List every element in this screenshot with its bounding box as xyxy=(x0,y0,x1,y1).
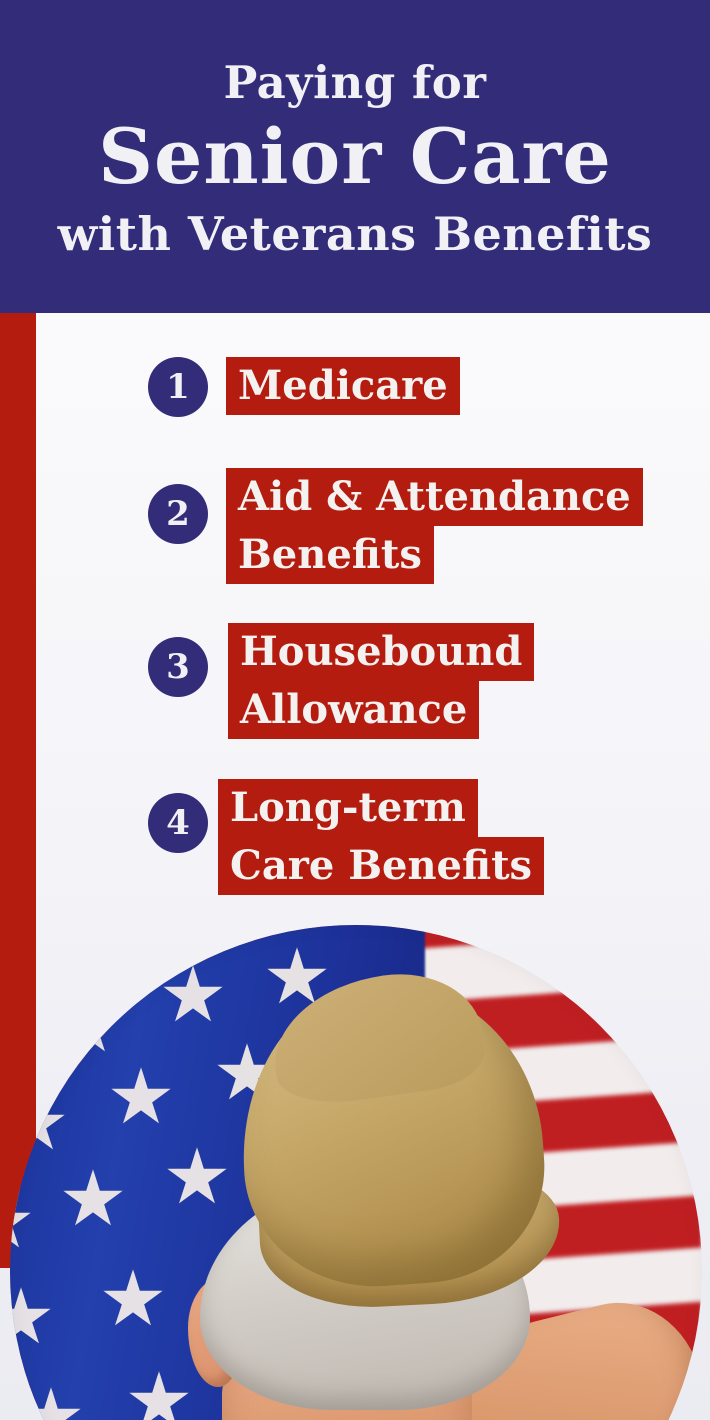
photo-content xyxy=(10,925,702,1420)
poster-header: Paying for Senior Care with Veterans Ben… xyxy=(0,0,710,313)
list-number-badge: 3 xyxy=(148,637,208,697)
header-line-1: Paying for xyxy=(224,60,487,105)
benefits-list: 1 Medicare 2 Aid & Attendance Benefits 3… xyxy=(0,313,710,933)
list-item: 1 Medicare xyxy=(148,357,460,417)
list-label-line: Medicare xyxy=(226,357,460,415)
list-item: 3 Housebound Allowance xyxy=(148,623,534,739)
list-label-wrap: Medicare xyxy=(226,357,460,415)
infographic-poster: Paying for Senior Care with Veterans Ben… xyxy=(0,0,710,1420)
list-item: 4 Long-term Care Benefits xyxy=(148,779,544,895)
list-item: 2 Aid & Attendance Benefits xyxy=(148,468,643,584)
list-number-badge: 4 xyxy=(148,793,208,853)
list-label-wrap: Housebound Allowance xyxy=(228,623,534,739)
list-label-wrap: Long-term Care Benefits xyxy=(218,779,544,895)
list-label-wrap: Aid & Attendance Benefits xyxy=(226,468,643,584)
list-label-line: Benefits xyxy=(226,526,434,584)
list-label-line: Allowance xyxy=(228,681,479,739)
list-label-line: Housebound xyxy=(228,623,534,681)
list-label-line: Care Benefits xyxy=(218,837,544,895)
veteran-saluting-photo xyxy=(10,925,702,1420)
list-label-line: Aid & Attendance xyxy=(226,468,643,526)
header-line-2: Senior Care xyxy=(98,119,612,195)
list-label-line: Long-term xyxy=(218,779,478,837)
list-number-badge: 1 xyxy=(148,357,208,417)
list-number-badge: 2 xyxy=(148,484,208,544)
header-line-3: with Veterans Benefits xyxy=(58,211,653,257)
